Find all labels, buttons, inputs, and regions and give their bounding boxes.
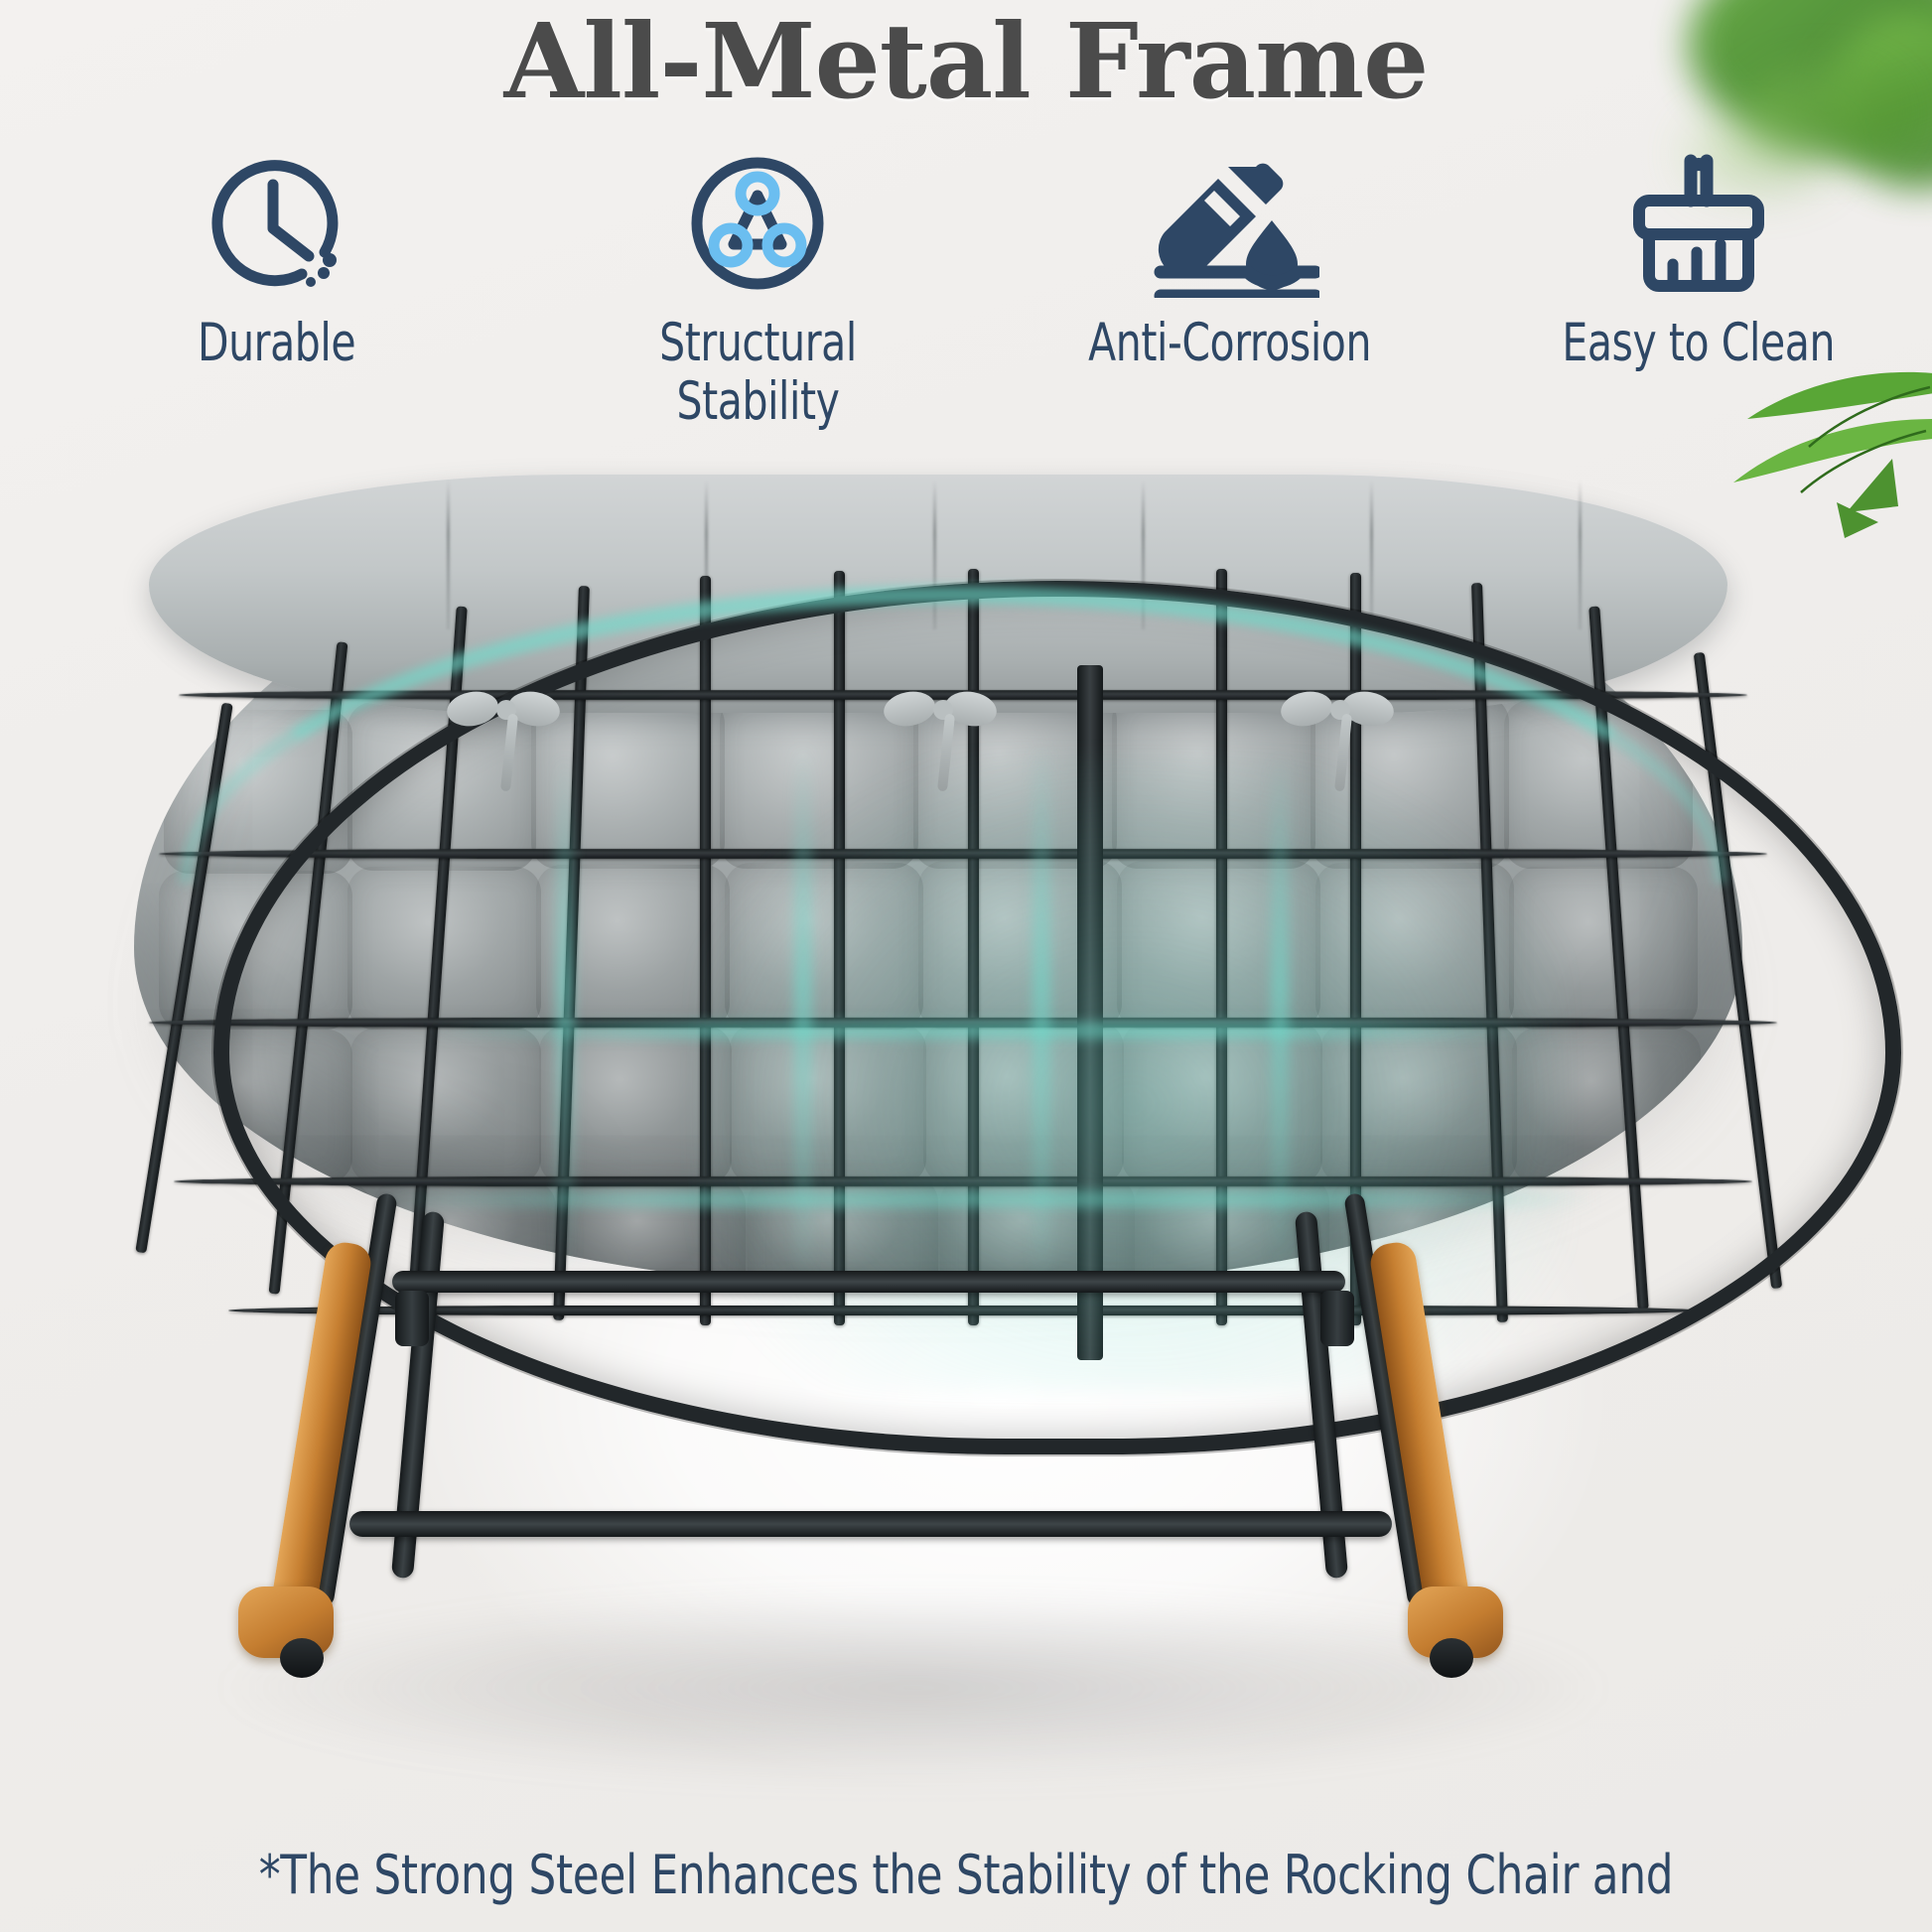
feature-durable: Durable: [103, 149, 451, 372]
cushion-tie: [447, 680, 566, 740]
brush-icon: [1619, 149, 1778, 298]
cushion-tie: [884, 680, 1003, 740]
feature-label: Durable: [198, 314, 355, 372]
leg-bracket: [1320, 1291, 1354, 1346]
page-title: All-Metal Frame: [0, 6, 1932, 117]
caster-wheel: [280, 1638, 324, 1678]
product-image: [0, 427, 1932, 1747]
leg-bracket: [395, 1291, 429, 1346]
caster-wheel: [1430, 1638, 1473, 1678]
feature-label: Structural Stability: [659, 314, 857, 432]
feature-label: Anti-Corrosion: [1089, 314, 1372, 372]
feature-list: Durable Structural Stability: [109, 149, 1872, 432]
caption-text: *The Strong Steel Enhances the Stability…: [204, 1777, 1727, 1932]
test-tube-drop-icon: [1141, 149, 1319, 298]
chair-rail: [392, 1271, 1345, 1293]
feature-anti-corrosion: Anti-Corrosion: [1056, 149, 1404, 372]
feature-structural-stability: Structural Stability: [584, 149, 931, 432]
feature-label: Easy to Clean: [1563, 314, 1836, 372]
caption-line-1: *The Strong Steel Enhances the Stability…: [204, 1843, 1727, 1908]
chair-base: [0, 1211, 1932, 1727]
chair-rail: [349, 1511, 1392, 1537]
triangle-nodes-icon: [678, 149, 837, 298]
infographic-canvas: All-Metal Frame: [0, 0, 1932, 1932]
cushion-tie: [1281, 680, 1400, 740]
feature-easy-to-clean: Easy to Clean: [1525, 149, 1872, 372]
clock-icon: [198, 149, 356, 298]
